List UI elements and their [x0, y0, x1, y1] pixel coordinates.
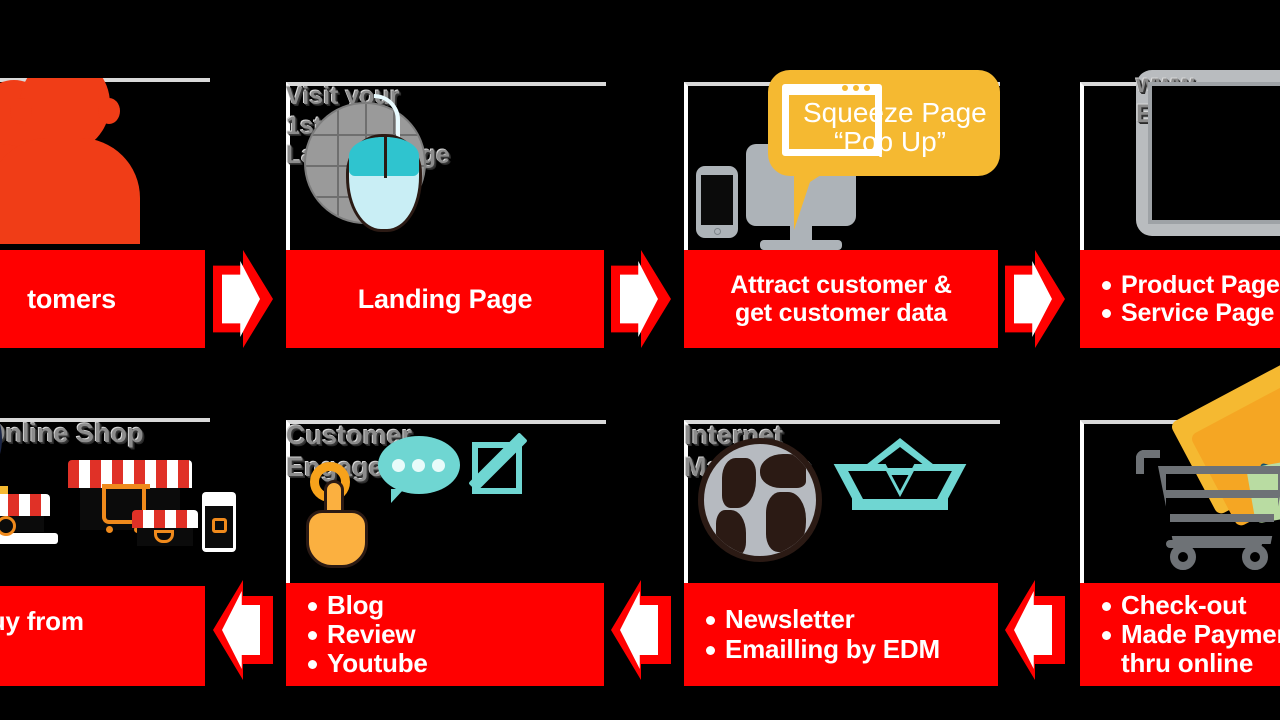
bullet-subtext: thru online: [1102, 649, 1280, 678]
arrow-left-1: [213, 580, 273, 680]
laptop-icon: [0, 480, 50, 544]
bar-line: get customer data: [735, 299, 947, 327]
arrow-right-1: [213, 250, 273, 348]
smartphone-icon: [696, 166, 738, 238]
bullet-item: Review: [308, 620, 604, 649]
chat-bubble-icon: [378, 436, 460, 494]
bullet-item: Product Page: [1102, 271, 1280, 299]
bullet-list: Check-out Made Payment thru online: [1102, 591, 1280, 678]
step-label-bar: tomers: [0, 250, 205, 348]
bullet-item: Check-out: [1102, 591, 1280, 620]
diagram-canvas: tomers Visit your: [0, 0, 1280, 720]
bullet-list: Product Page Service Page: [1102, 271, 1280, 327]
bar-line: Attract customer &: [730, 271, 951, 299]
step-label-bar: Check-out Made Payment thru online: [1080, 583, 1280, 686]
step-label-bar: Product Page Service Page: [1080, 250, 1280, 348]
open-envelope-icon: [852, 438, 948, 510]
people-art: [0, 78, 210, 244]
checkout-art: [1080, 420, 1280, 580]
bubble-line: “Pop Up”: [803, 127, 1003, 156]
bullet-item: Service Page: [1102, 299, 1280, 327]
marketing-art: Internet Marketing: [684, 420, 1000, 580]
step-attract-customer[interactable]: Squeeze Page “Pop Up” Attract customer &…: [684, 82, 1000, 348]
engagement-art: Customer Engagement: [286, 420, 606, 580]
bullet-item: Emailling by EDM: [706, 635, 998, 664]
step-ecommerce[interactable]: www E-commerce Product Page Service Page: [1080, 82, 1280, 348]
attract-art: Squeeze Page “Pop Up”: [684, 82, 1000, 254]
shopping-cart-icon: [1136, 444, 1280, 572]
shop-art: hop/ Online Shop: [0, 418, 210, 583]
step-label-bar: mer buy from gain...: [0, 586, 205, 686]
coffee-cup-icon: [202, 492, 236, 552]
bullet-item: Blog: [308, 591, 604, 620]
arrow-right-3: [1005, 250, 1065, 348]
browser-window-icon: www E-commerce: [1136, 70, 1280, 236]
bullet-list: Blog Review Youtube: [308, 591, 604, 678]
small-shop-icon: [132, 500, 198, 552]
bar-line: tomers: [27, 284, 116, 314]
mouse-icon: [346, 134, 422, 232]
step-shop-online-shop[interactable]: hop/ Online Shop mer buy from gain...: [0, 418, 210, 686]
step-label-bar: Blog Review Youtube: [286, 583, 604, 686]
speech-bubble-icon: Squeeze Page “Pop Up”: [768, 70, 1000, 176]
arrow-left-2: [611, 580, 671, 680]
step-check-out[interactable]: Check-out Made Payment thru online: [1080, 420, 1280, 686]
step-label-bar: Attract customer & get customer data: [684, 250, 998, 348]
step-customer-engagement[interactable]: Customer Engagement Blog Review Youtube: [286, 420, 606, 686]
earth-globe-icon: [698, 438, 822, 562]
bubble-line: Squeeze Page: [803, 98, 1003, 127]
landing-art: Visit your 1st Page Landing Page: [286, 82, 606, 248]
bullet-item: Newsletter: [706, 605, 998, 634]
bullet-item: Youtube: [308, 649, 604, 678]
step-label-bar: Landing Page: [286, 250, 604, 348]
pointer-hand-icon: [300, 462, 376, 568]
bubble-text: Squeeze Page “Pop Up”: [803, 98, 1003, 157]
arrow-right-2: [611, 250, 671, 348]
bar-line: gain...: [0, 636, 205, 665]
caption-line: Visit your: [286, 82, 606, 112]
bullet-item: Made Payment: [1102, 620, 1280, 649]
step-landing-page[interactable]: Visit your 1st Page Landing Page Landing…: [286, 82, 606, 348]
bar-line: Landing Page: [358, 284, 533, 314]
navy-circle-decor: [0, 396, 2, 482]
ecommerce-art: www E-commerce: [1080, 82, 1280, 248]
bullet-list: Newsletter Emailling by EDM: [706, 605, 998, 663]
bar-line: mer buy from: [0, 607, 205, 636]
step-customers[interactable]: tomers: [0, 78, 210, 348]
arrow-left-3: [1005, 580, 1065, 680]
step-internet-marketing[interactable]: Internet Marketing Newsletter Emailling …: [684, 420, 1000, 686]
step-label-bar: Newsletter Emailling by EDM: [684, 583, 998, 686]
people-icon: [0, 78, 130, 244]
